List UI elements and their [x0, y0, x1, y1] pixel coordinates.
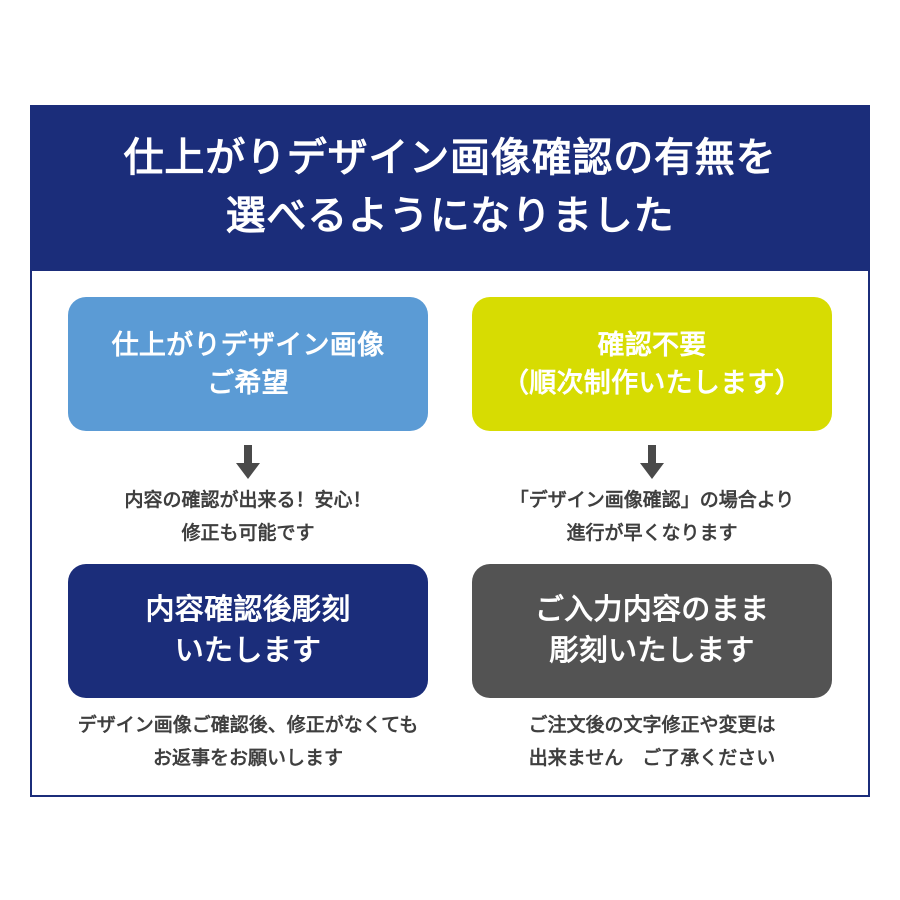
down-arrow-icon	[639, 445, 665, 479]
info-card: 仕上がりデザイン画像確認の有無を 選べるようになりました 仕上がりデザイン画像 …	[30, 105, 870, 797]
page-root: 仕上がりデザイン画像確認の有無を 選べるようになりました 仕上がりデザイン画像 …	[0, 0, 900, 900]
option-label-line-1: 仕上がりデザイン画像	[112, 326, 385, 364]
down-arrow-icon	[235, 445, 261, 479]
note-caption-right: ご注文後の文字修正や変更は 出来ません ご了承ください	[528, 710, 775, 775]
option-column-with-design-check: 仕上がりデザイン画像 ご希望 内容の確認が出来る！安心！ 修正も可能です 内容確…	[68, 297, 428, 785]
outcome-line-1: 内容確認後彫刻	[145, 590, 350, 631]
banner-title-line-2: 選べるようになりました	[62, 187, 838, 245]
option-label-box-design-requested[interactable]: 仕上がりデザイン画像 ご希望	[68, 297, 428, 431]
outcome-line-2: 彫刻いたします	[549, 631, 754, 672]
note-caption-right-line-2: 出来ません ご了承ください	[528, 743, 775, 776]
outcome-box-no-check[interactable]: ご入力内容のまま 彫刻いたします	[472, 564, 832, 698]
outcome-line-1: ご入力内容のまま	[535, 590, 769, 631]
option-label-line-2: （順次制作いたします）	[502, 364, 802, 402]
note-caption-left: デザイン画像ご確認後、修正がなくても お返事をお願いします	[78, 710, 418, 775]
option-label-box-no-check[interactable]: 確認不要 （順次制作いたします）	[472, 297, 832, 431]
benefit-caption-right-line-1: 「デザイン画像確認」の場合より	[510, 485, 795, 518]
option-label-line-1: 確認不要	[597, 326, 706, 364]
options-body: 仕上がりデザイン画像 ご希望 内容の確認が出来る！安心！ 修正も可能です 内容確…	[32, 271, 868, 795]
banner-header: 仕上がりデザイン画像確認の有無を 選べるようになりました	[32, 107, 868, 271]
option-label-line-2: ご希望	[207, 364, 289, 402]
benefit-caption-left-line-2: 修正も可能です	[124, 518, 371, 551]
benefit-caption-right-line-2: 進行が早くなります	[510, 518, 795, 551]
outcome-box-design-requested[interactable]: 内容確認後彫刻 いたします	[68, 564, 428, 698]
banner-title-line-1: 仕上がりデザイン画像確認の有無を	[62, 129, 838, 187]
note-caption-left-line-1: デザイン画像ご確認後、修正がなくても	[78, 710, 418, 743]
note-caption-left-line-2: お返事をお願いします	[78, 743, 418, 776]
benefit-caption-right: 「デザイン画像確認」の場合より 進行が早くなります	[510, 485, 795, 550]
outcome-line-2: いたします	[175, 631, 321, 672]
benefit-caption-left: 内容の確認が出来る！安心！ 修正も可能です	[124, 485, 371, 550]
benefit-caption-left-line-1: 内容の確認が出来る！安心！	[124, 485, 371, 518]
note-caption-right-line-1: ご注文後の文字修正や変更は	[528, 710, 775, 743]
option-column-without-design-check: 確認不要 （順次制作いたします） 「デザイン画像確認」の場合より 進行が早くなり…	[472, 297, 832, 785]
